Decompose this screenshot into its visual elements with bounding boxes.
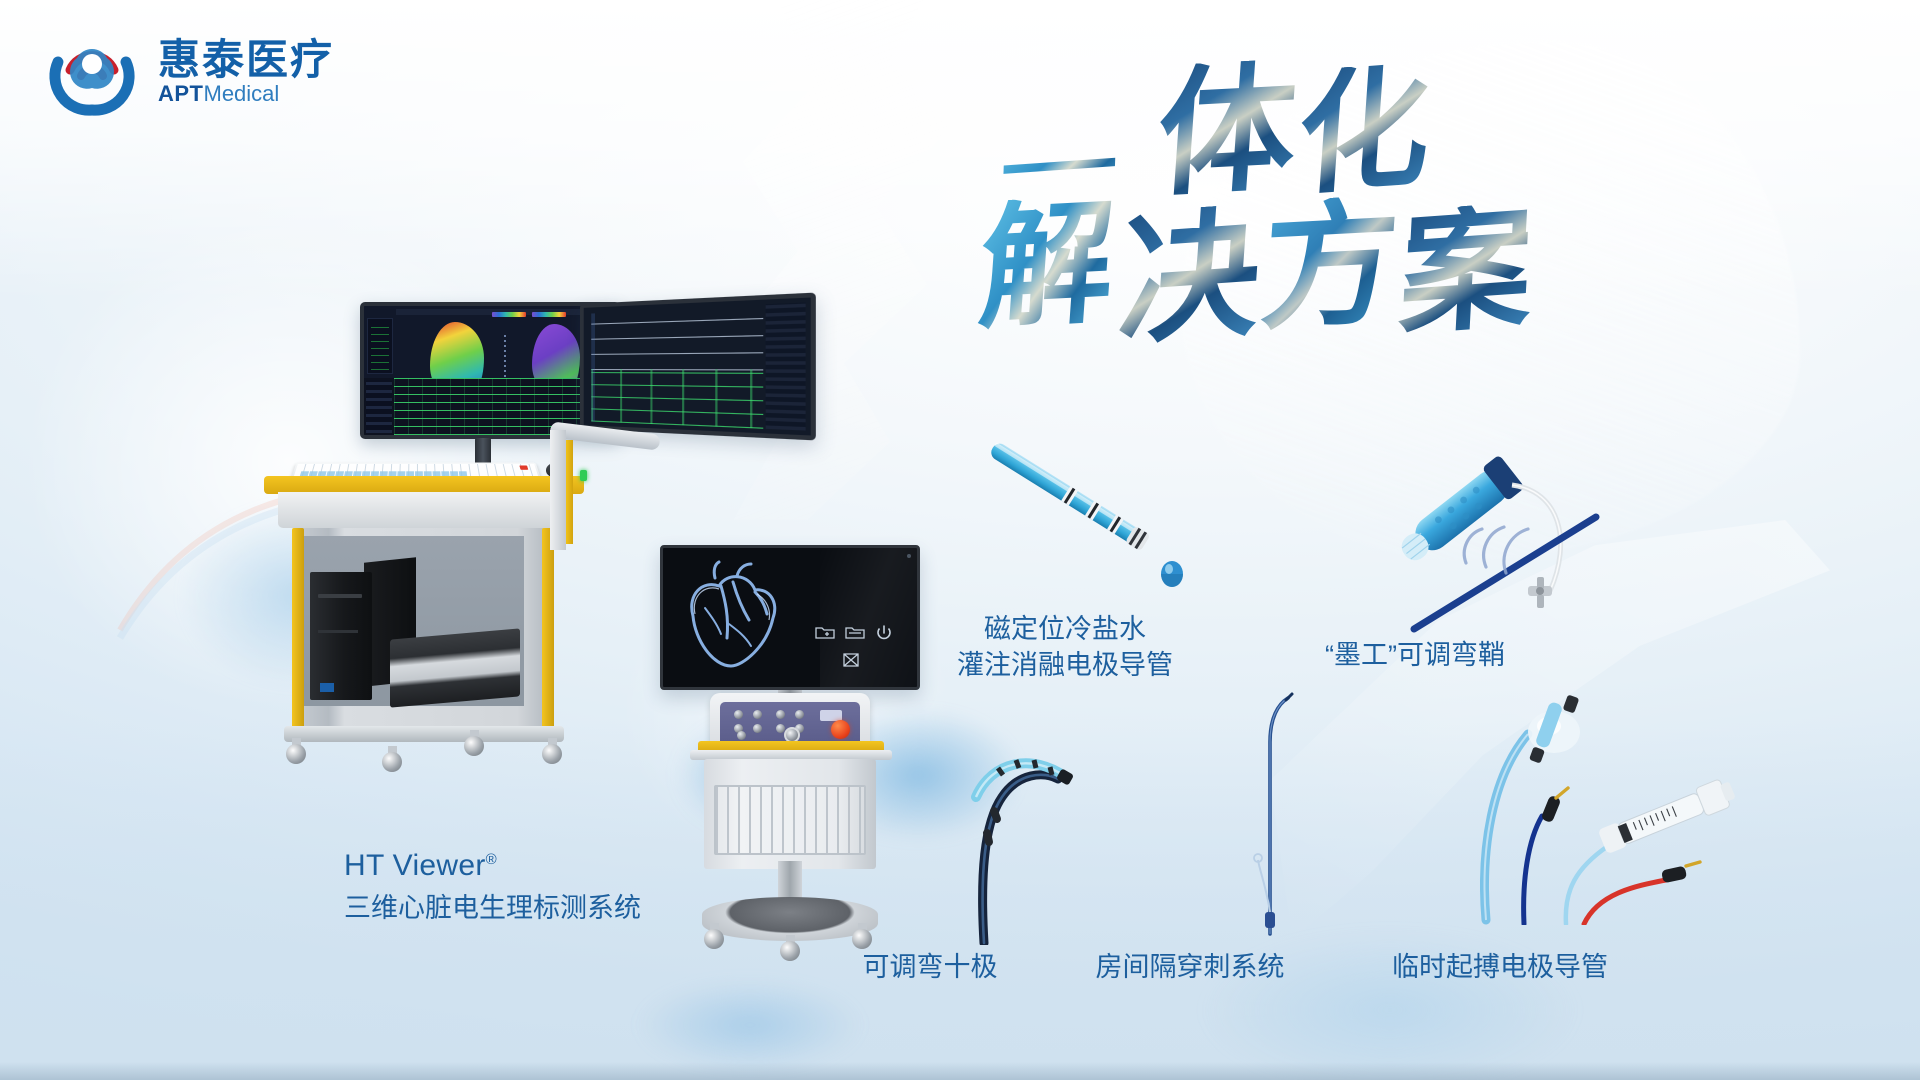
headline-char-jie: 解 bbox=[975, 194, 1118, 336]
decapolar-catheter-image bbox=[940, 715, 1080, 935]
ground-port[interactable] bbox=[737, 731, 746, 740]
cart-caster bbox=[382, 746, 402, 772]
cart-post-right bbox=[542, 528, 554, 734]
headline-char-ti: 体 bbox=[1153, 58, 1301, 204]
settings-icon[interactable] bbox=[841, 652, 861, 671]
case-list-icon[interactable] bbox=[845, 624, 865, 643]
headline-char-an: 案 bbox=[1397, 201, 1536, 343]
steerable-sheath-label: “墨工”可调弯鞘 bbox=[1290, 638, 1540, 674]
decapolar-catheter-label-line1: 可调弯十极 bbox=[820, 950, 1040, 986]
headline-char-jue: 决 bbox=[1115, 203, 1265, 354]
cart2-caster bbox=[852, 923, 872, 949]
pacing-catheter-label: 临时起搏电极导管 bbox=[1350, 950, 1650, 986]
ablation-catheter-label: 磁定位冷盐水 灌注消融电极导管 bbox=[865, 612, 1265, 683]
blue-mist-right bbox=[1130, 900, 1650, 1080]
cart-caster bbox=[464, 730, 484, 756]
irrigated-ablation-catheter-image bbox=[980, 440, 1200, 600]
steerable-sheath-label-line1: “墨工”可调弯鞘 bbox=[1290, 638, 1540, 674]
headline-char-hua: 化 bbox=[1294, 61, 1435, 203]
cart-caster bbox=[286, 738, 306, 764]
electrode-port[interactable] bbox=[753, 724, 762, 733]
decapolar-catheter-label: 可调弯十极 bbox=[820, 950, 1040, 986]
cart-storage-basket bbox=[714, 785, 866, 855]
ablation-catheter-label-line1: 磁定位冷盐水 bbox=[865, 612, 1265, 648]
cart2-caster bbox=[704, 923, 724, 949]
cart2-caster bbox=[780, 935, 800, 961]
recording-monitor bbox=[580, 293, 816, 441]
apt-medical-logo-icon bbox=[44, 24, 140, 120]
mapping-side-panel bbox=[367, 318, 393, 374]
cart-base bbox=[284, 726, 564, 742]
transseptal-label-line1: 房间隔穿刺系统 bbox=[1060, 950, 1320, 986]
power-led-indicator bbox=[580, 470, 587, 481]
brand-logo: 惠泰医疗 APTMedical bbox=[44, 24, 334, 120]
cart-column-accent bbox=[566, 440, 573, 544]
steerable-sheath-image bbox=[1400, 445, 1700, 645]
logo-chinese-name: 惠泰医疗 bbox=[158, 39, 334, 81]
mapping-monitor-screen bbox=[364, 306, 616, 378]
cart-post-left bbox=[292, 528, 304, 734]
pacing-catheter-label-line1: 临时起搏电极导管 bbox=[1350, 950, 1650, 986]
ablation-catheter-label-line2: 灌注消融电极导管 bbox=[865, 648, 1265, 684]
ht-viewer-name-cn: 三维心脏电生理标测系统 bbox=[344, 891, 641, 927]
electrode-port[interactable] bbox=[753, 710, 762, 719]
bottom-edge-shadow bbox=[0, 1062, 1920, 1080]
logo-apt-text: APT bbox=[158, 81, 204, 106]
generator-control-panel bbox=[720, 702, 860, 746]
cart-vertical-column bbox=[550, 430, 566, 550]
headline-char-fang: 方 bbox=[1257, 194, 1402, 338]
ht-viewer-name-en: HT Viewer® bbox=[344, 846, 641, 886]
keyboard-tray-body bbox=[278, 492, 568, 528]
logo-english-name: APTMedical bbox=[158, 83, 334, 105]
electrode-port[interactable] bbox=[776, 710, 785, 719]
logo-medical-text: Medical bbox=[204, 81, 280, 106]
transseptal-label: 房间隔穿刺系统 bbox=[1060, 950, 1320, 986]
cart-caster bbox=[542, 738, 562, 764]
color-scale-bar-1 bbox=[492, 312, 526, 317]
electrode-port[interactable] bbox=[734, 710, 743, 719]
pc-tower bbox=[310, 572, 372, 700]
ht-viewer-workstation bbox=[250, 280, 670, 800]
poster-canvas: 惠泰医疗 APTMedical 一 体 化 解 决 方 案 bbox=[0, 0, 1920, 1080]
ht-viewer-label: HT Viewer® 三维心脏电生理标测系统 bbox=[344, 846, 641, 926]
temporary-pacing-catheter-image bbox=[1480, 690, 1770, 920]
headline-calligraphy: 一 体 化 解 决 方 案 bbox=[980, 48, 1620, 348]
new-case-icon[interactable] bbox=[815, 624, 835, 643]
transseptal-puncture-system-image bbox=[1230, 690, 1300, 940]
heart-anatomy-graphic bbox=[671, 554, 801, 684]
color-scale-bar-2 bbox=[532, 312, 566, 317]
electrode-port[interactable] bbox=[795, 710, 804, 719]
laser-printer bbox=[390, 628, 520, 707]
emergency-stop-button[interactable] bbox=[831, 720, 850, 739]
